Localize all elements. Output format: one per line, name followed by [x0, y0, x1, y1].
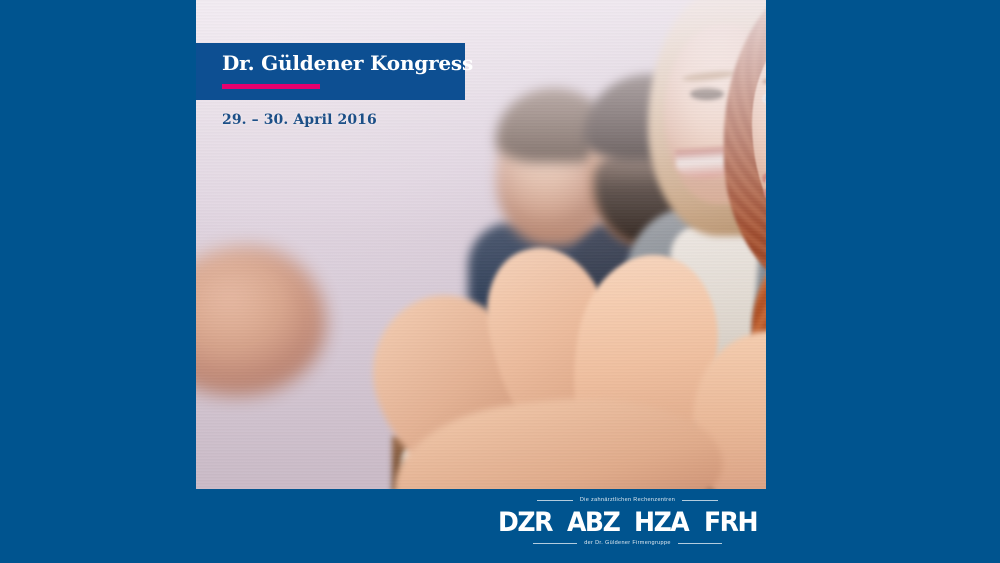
logo-tagline-bottom: der Dr. Güldener Firmengruppe	[584, 541, 671, 547]
company-logo: Die zahnärztlichen Rechenzentren DZR ABZ…	[515, 494, 740, 554]
logo-top-row: Die zahnärztlichen Rechenzentren	[515, 494, 740, 507]
logo-word-hza: HZA	[635, 509, 689, 536]
logo-wordmarks: DZR ABZ HZA FRH	[515, 509, 740, 536]
logo-word-frh: FRH	[704, 509, 757, 536]
event-title-bar: Dr. Güldener Kongress	[196, 43, 465, 100]
logo-word-dzr: DZR	[498, 509, 552, 536]
page-title: Dr. Güldener Kongress	[222, 51, 473, 75]
title-accent-rule	[222, 84, 320, 89]
logo-rule-top-left	[537, 500, 573, 501]
logo-rule-bottom-right	[678, 543, 722, 544]
poster-canvas: Dr. Güldener Kongress 29. – 30. April 20…	[0, 0, 1000, 563]
logo-rule-bottom-left	[533, 543, 577, 544]
logo-word-abz: ABZ	[567, 509, 619, 536]
logo-rule-top-right	[682, 500, 718, 501]
event-dates: 29. – 30. April 2016	[222, 112, 377, 128]
logo-bottom-row: der Dr. Güldener Firmengruppe	[515, 537, 740, 550]
logo-tagline-top: Die zahnärztlichen Rechenzentren	[580, 498, 675, 504]
